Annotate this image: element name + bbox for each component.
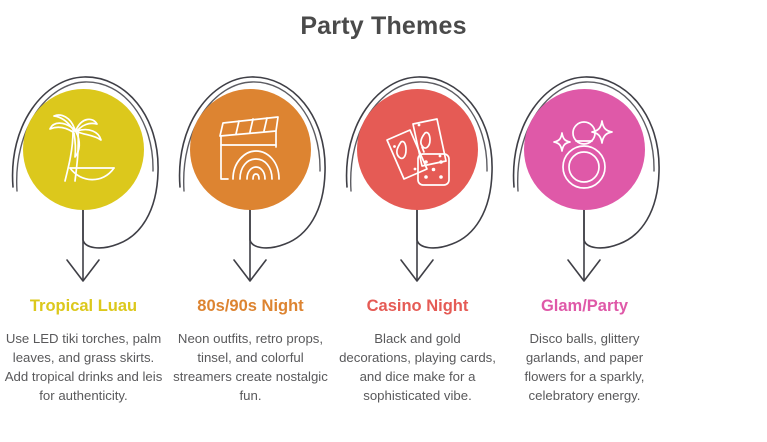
icon-ring-wrap [167,72,334,285]
diamond-ring-sparkles-icon [524,89,645,210]
icon-ring-wrap [501,72,668,285]
card-heading: 80s/90s Night [197,297,303,317]
card-heading: Glam/Party [541,297,628,317]
theme-icon-circle[interactable] [190,89,311,210]
card-heading: Tropical Luau [30,297,137,317]
icon-ring-wrap [0,72,167,285]
theme-card-glam-party[interactable]: Glam/Party Disco balls, glittery garland… [501,72,668,442]
themes-row: Tropical Luau Use LED tiki torches, palm… [0,72,767,442]
card-body: Disco balls, glittery garlands, and pape… [505,329,665,406]
card-heading: Casino Night [367,297,469,317]
theme-icon-circle[interactable] [357,89,478,210]
palm-tree-hammock-icon [23,89,144,210]
theme-icon-circle[interactable] [524,89,645,210]
theme-card-tropical-luau[interactable]: Tropical Luau Use LED tiki torches, palm… [0,72,167,442]
cards-dice-icon [357,89,478,210]
card-body: Use LED tiki torches, palm leaves, and g… [4,329,164,406]
card-body: Neon outfits, retro props, tinsel, and c… [171,329,331,406]
page-title: Party Themes [0,12,767,41]
theme-card-casino-night[interactable]: Casino Night Black and gold decorations,… [334,72,501,442]
clapperboard-rainbow-icon [190,89,311,210]
theme-card-80s-90s-night[interactable]: 80s/90s Night Neon outfits, retro props,… [167,72,334,442]
card-body: Black and gold decorations, playing card… [338,329,498,406]
icon-ring-wrap [334,72,501,285]
theme-icon-circle[interactable] [23,89,144,210]
